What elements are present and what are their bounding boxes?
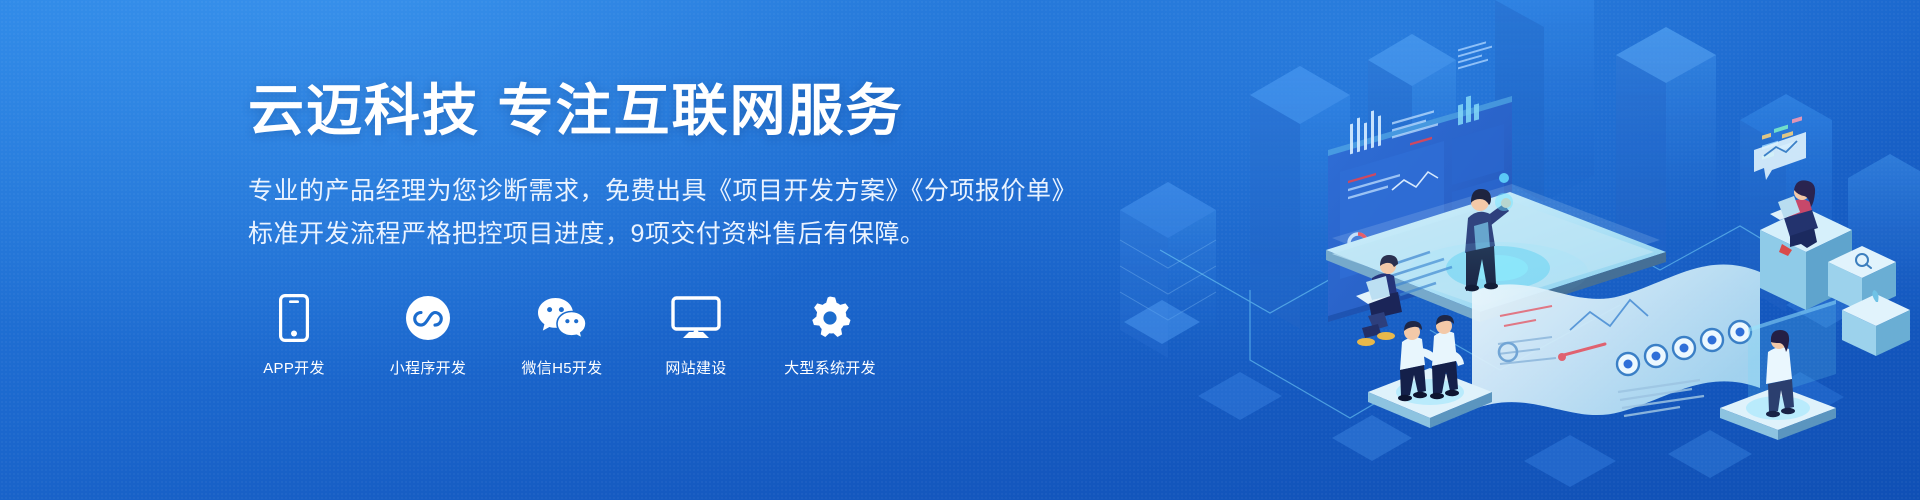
hero-banner: 云迈科技 专注互联网服务 专业的产品经理为您诊断需求，免费出具《项目开发方案》《… xyxy=(0,0,1920,500)
service-item-wechat-h5[interactable]: 微信H5开发 xyxy=(516,290,608,378)
service-label: 小程序开发 xyxy=(390,357,467,378)
mini-program-icon xyxy=(405,290,451,346)
gear-icon xyxy=(807,290,853,346)
service-item-app[interactable]: APP开发 xyxy=(248,290,340,378)
service-label: 网站建设 xyxy=(665,357,726,378)
service-label: 大型系统开发 xyxy=(784,357,876,378)
service-list: APP开发 小程序开发 xyxy=(248,290,1168,378)
page-title: 云迈科技 专注互联网服务 xyxy=(248,78,1168,144)
subtitle-line-1: 专业的产品经理为您诊断需求，免费出具《项目开发方案》《分项报价单》 xyxy=(248,170,1168,213)
service-item-website[interactable]: 网站建设 xyxy=(650,290,742,378)
service-label: 微信H5开发 xyxy=(522,357,603,378)
mobile-phone-icon xyxy=(279,290,309,346)
monitor-icon xyxy=(671,290,721,346)
service-item-miniprogram[interactable]: 小程序开发 xyxy=(382,290,474,378)
subtitle-line-2: 标准开发流程严格把控项目进度，9项交付资料售后有保障。 xyxy=(248,213,1168,256)
banner-subtitle: 专业的产品经理为您诊断需求，免费出具《项目开发方案》《分项报价单》 标准开发流程… xyxy=(248,170,1168,256)
isometric-tech-teamwork-illustration xyxy=(1100,0,1920,500)
service-item-large-system[interactable]: 大型系统开发 xyxy=(784,290,876,378)
banner-content: 云迈科技 专注互联网服务 专业的产品经理为您诊断需求，免费出具《项目开发方案》《… xyxy=(248,78,1168,378)
wechat-icon xyxy=(536,290,588,346)
service-label: APP开发 xyxy=(263,357,325,378)
